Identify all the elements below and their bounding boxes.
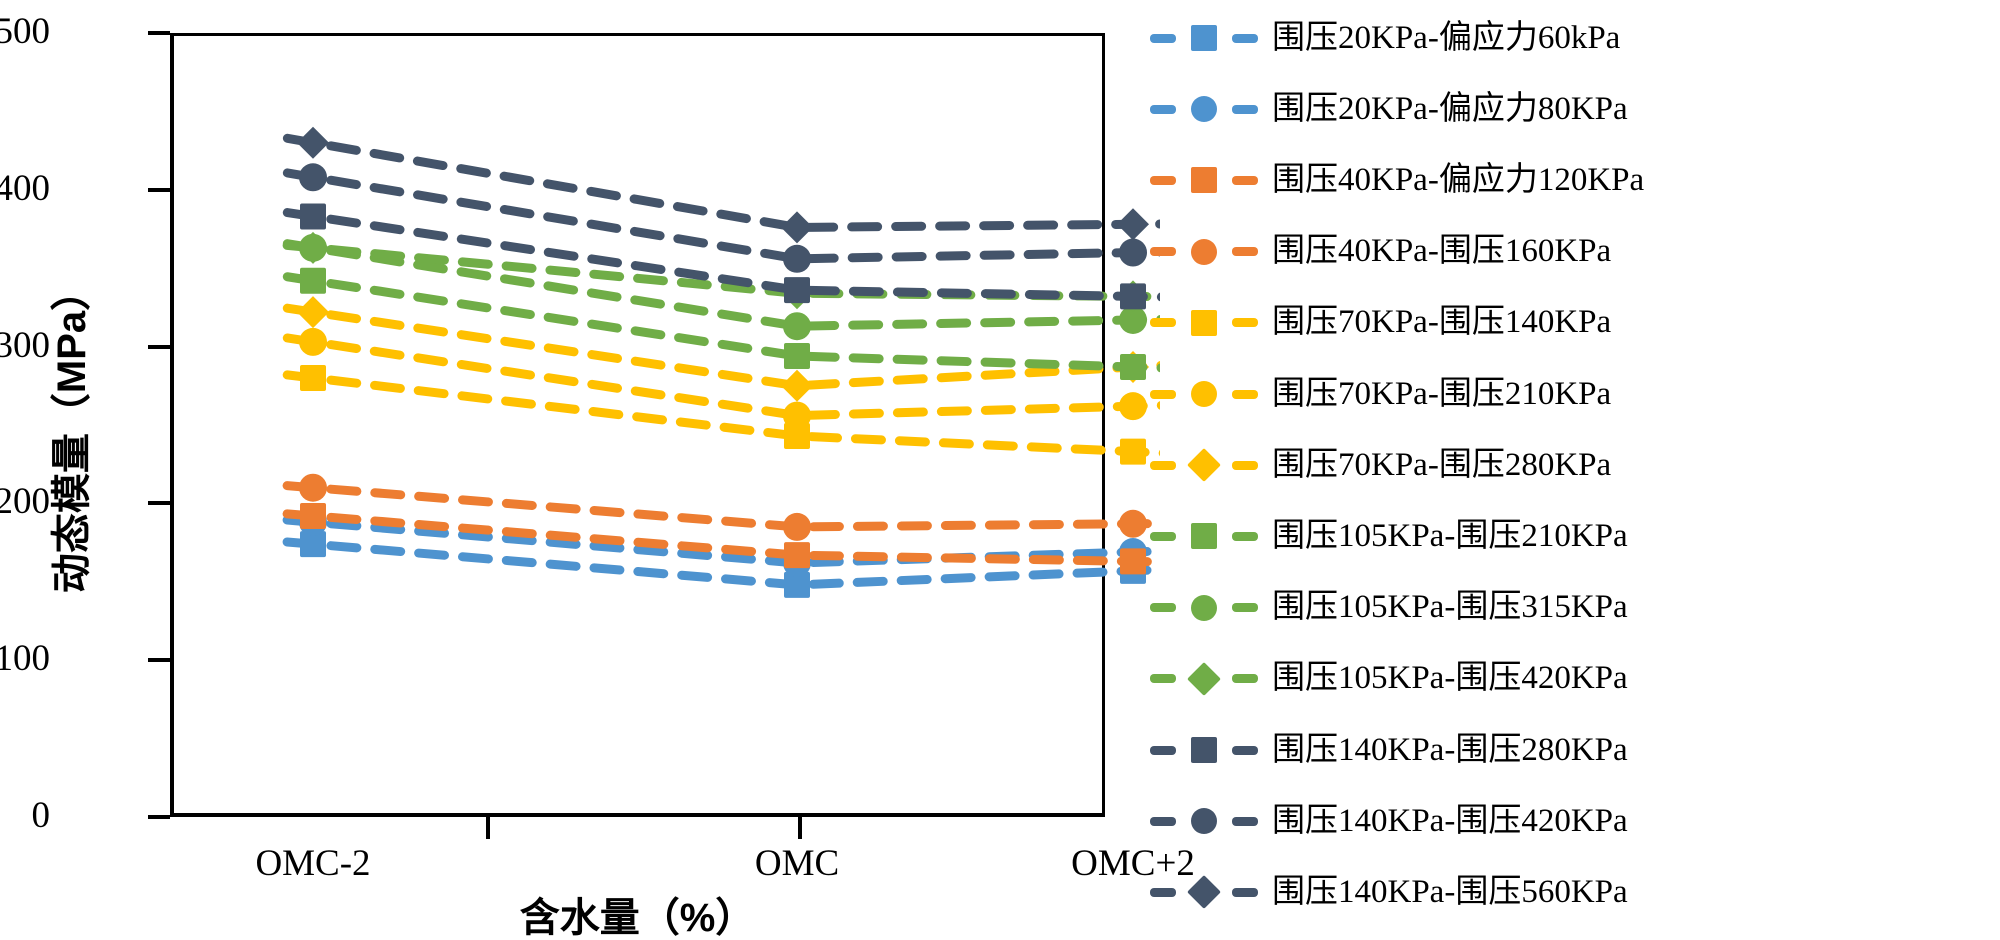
legend-dash-left	[1150, 603, 1176, 612]
legend-marker	[1191, 310, 1217, 336]
series-line	[287, 375, 1160, 454]
data-point-marker	[300, 203, 326, 229]
circle-marker-icon	[1187, 239, 1221, 265]
legend-marker	[1191, 25, 1217, 51]
legend-label: 围压40KPa-偏应力120KPa	[1272, 164, 1644, 197]
data-point-marker	[300, 268, 326, 294]
data-point-marker	[300, 503, 326, 529]
data-point-marker	[297, 296, 329, 328]
circle-marker-icon	[1187, 595, 1221, 621]
legend-label: 围压40KPa-围压160KPa	[1272, 235, 1611, 268]
legend-dash-right	[1232, 390, 1258, 399]
dynamic-modulus-chart: 0100200300400500 OMC-2OMCOMC+2 动态模量（MPa）…	[0, 0, 2000, 939]
data-point-marker	[783, 513, 811, 541]
legend-marker	[1191, 381, 1217, 407]
square-marker-icon	[1187, 167, 1221, 193]
data-point-marker	[1119, 392, 1147, 420]
legend-dash-left	[1150, 461, 1176, 470]
legend-label: 围压105KPa-围压210KPa	[1272, 520, 1628, 553]
circle-marker-icon	[1187, 96, 1221, 122]
circle-marker-icon	[1187, 381, 1221, 407]
square-marker-icon	[1187, 310, 1221, 336]
series-4	[287, 365, 1160, 465]
legend-dash-right	[1232, 247, 1258, 256]
data-point-marker	[1119, 239, 1147, 267]
legend-item[interactable]: 围压40KPa-围压160KPa	[1150, 230, 1611, 274]
y-axis-title: 动态模量（MPa）	[52, 122, 92, 742]
legend-marker	[1191, 96, 1217, 122]
series-layer	[0, 0, 1160, 939]
legend-item[interactable]: 围压105KPa-围压315KPa	[1150, 586, 1628, 630]
legend-label: 围压105KPa-围压420KPa	[1272, 662, 1628, 695]
diamond-marker-icon	[1187, 880, 1221, 904]
legend-marker	[1187, 662, 1221, 696]
legend-dash-right	[1232, 532, 1258, 541]
x-axis-title: 含水量（%）	[170, 898, 1105, 938]
legend-dash-right	[1232, 603, 1258, 612]
legend-dash-left	[1150, 746, 1176, 755]
square-marker-icon	[1187, 523, 1221, 549]
data-point-marker	[1120, 354, 1146, 380]
data-point-marker	[1120, 548, 1146, 574]
diamond-marker-icon	[1187, 667, 1221, 691]
data-point-marker	[784, 343, 810, 369]
circle-marker-icon	[1187, 808, 1221, 834]
legend-dash-left	[1150, 247, 1176, 256]
legend-item[interactable]: 围压105KPa-围压210KPa	[1150, 514, 1628, 558]
legend-marker	[1191, 239, 1217, 265]
legend-marker	[1187, 448, 1221, 482]
legend-label: 围压70KPa-围压210KPa	[1272, 378, 1611, 411]
legend-item[interactable]: 围压70KPa-围压210KPa	[1150, 372, 1611, 416]
data-point-marker	[784, 277, 810, 303]
legend-dash-right	[1232, 746, 1258, 755]
data-point-marker	[1120, 283, 1146, 309]
legend-dash-left	[1150, 34, 1176, 43]
data-point-marker	[297, 232, 329, 264]
legend-item[interactable]: 围压140KPa-围压280KPa	[1150, 728, 1628, 772]
data-point-marker	[1117, 208, 1149, 240]
data-point-marker	[781, 370, 813, 402]
square-marker-icon	[1187, 737, 1221, 763]
legend-item[interactable]: 围压140KPa-围压420KPa	[1150, 799, 1628, 843]
legend-dash-right	[1232, 318, 1258, 327]
legend-marker	[1191, 737, 1217, 763]
legend-marker	[1191, 595, 1217, 621]
legend-label: 围压70KPa-围压140KPa	[1272, 306, 1611, 339]
diamond-marker-icon	[1187, 453, 1221, 477]
data-point-marker	[1120, 439, 1146, 465]
series-12	[287, 127, 1160, 244]
legend-dash-right	[1232, 674, 1258, 683]
legend-dash-right	[1232, 461, 1258, 470]
legend: 围压20KPa-偏应力60kPa围压20KPa-偏应力80KPa围压40KPa-…	[1150, 8, 2000, 933]
legend-marker	[1191, 167, 1217, 193]
legend-marker	[1191, 808, 1217, 834]
data-point-marker	[783, 402, 811, 430]
legend-item[interactable]: 围压105KPa-围压420KPa	[1150, 657, 1628, 701]
legend-dash-right	[1232, 817, 1258, 826]
legend-dash-left	[1150, 390, 1176, 399]
data-point-marker	[784, 542, 810, 568]
legend-label: 围压105KPa-围压315KPa	[1272, 591, 1628, 624]
square-marker-icon	[1187, 25, 1221, 51]
legend-dash-right	[1232, 105, 1258, 114]
legend-label: 围压20KPa-偏应力80KPa	[1272, 93, 1628, 126]
legend-label: 围压140KPa-围压420KPa	[1272, 805, 1628, 838]
legend-label: 围压140KPa-围压560KPa	[1272, 876, 1628, 909]
legend-dash-left	[1150, 318, 1176, 327]
data-point-marker	[299, 163, 327, 191]
series-2	[287, 503, 1160, 574]
series-line	[287, 138, 1160, 227]
legend-dash-left	[1150, 888, 1176, 897]
data-point-marker	[783, 312, 811, 340]
plot-area: 0100200300400500 OMC-2OMCOMC+2 动态模量（MPa）…	[0, 0, 1160, 939]
legend-item[interactable]: 围压70KPa-围压140KPa	[1150, 301, 1611, 345]
legend-item[interactable]: 围压70KPa-围压280KPa	[1150, 443, 1611, 487]
data-point-marker	[299, 474, 327, 502]
legend-dash-left	[1150, 532, 1176, 541]
legend-marker	[1191, 523, 1217, 549]
legend-dash-left	[1150, 176, 1176, 185]
legend-marker	[1187, 875, 1221, 909]
data-point-marker	[783, 245, 811, 273]
data-point-marker	[781, 211, 813, 243]
legend-dash-right	[1232, 176, 1258, 185]
legend-item[interactable]: 围压20KPa-偏应力60kPa	[1150, 16, 1620, 60]
data-point-marker	[1119, 510, 1147, 538]
series-0	[287, 531, 1160, 598]
data-point-marker	[300, 365, 326, 391]
data-point-marker	[299, 328, 327, 356]
legend-item[interactable]: 围压20KPa-偏应力80KPa	[1150, 87, 1628, 131]
legend-label: 围压70KPa-围压280KPa	[1272, 449, 1611, 482]
legend-label: 围压140KPa-围压280KPa	[1272, 734, 1628, 767]
data-point-marker	[297, 127, 329, 159]
legend-item[interactable]: 围压40KPa-偏应力120KPa	[1150, 158, 1644, 202]
legend-label: 围压20KPa-偏应力60kPa	[1272, 22, 1620, 55]
legend-item[interactable]: 围压140KPa-围压560KPa	[1150, 870, 1628, 914]
legend-dash-right	[1232, 888, 1258, 897]
legend-dash-left	[1150, 817, 1176, 826]
legend-dash-right	[1232, 34, 1258, 43]
legend-dash-left	[1150, 674, 1176, 683]
legend-dash-left	[1150, 105, 1176, 114]
